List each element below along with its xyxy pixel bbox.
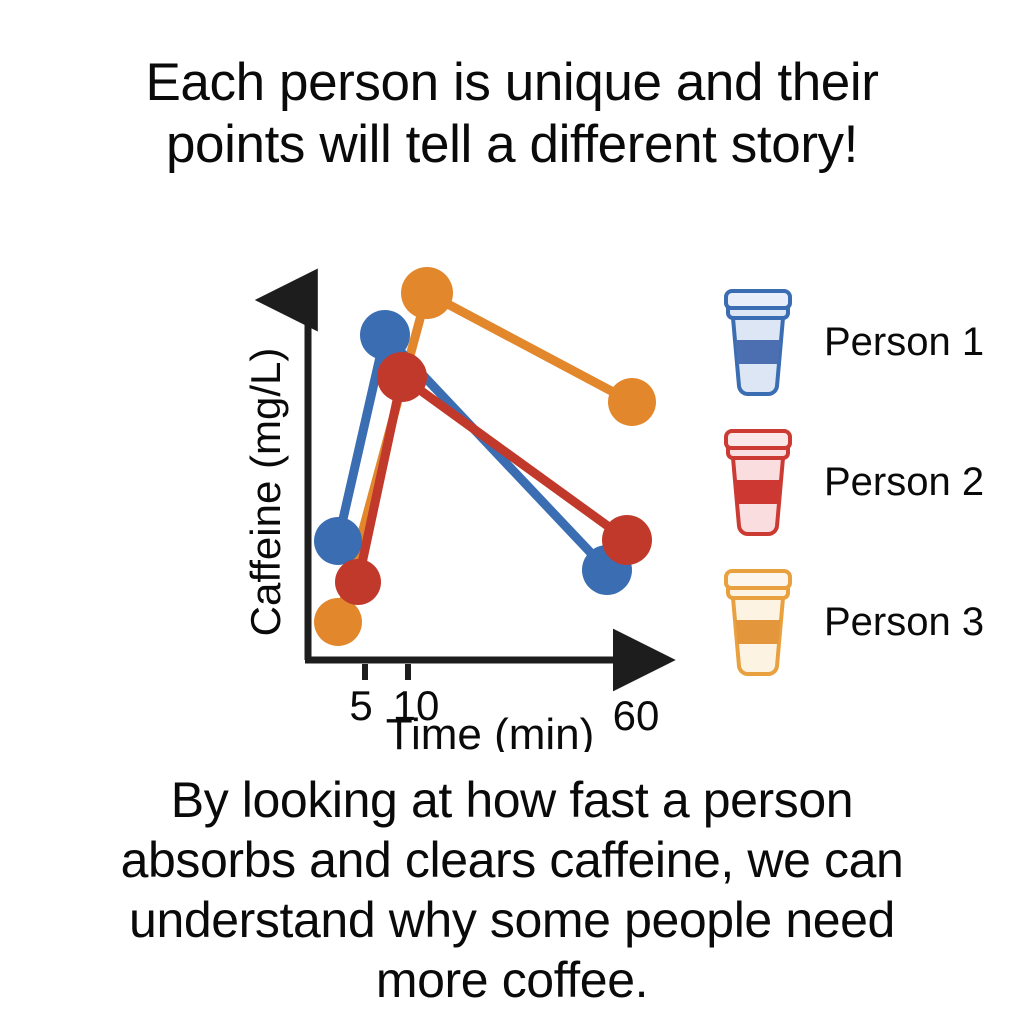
data-point	[608, 378, 656, 426]
legend-label: Person 3	[824, 602, 984, 642]
data-point	[602, 515, 652, 565]
headline-text: Each person is unique and their points w…	[0, 52, 1024, 176]
x-tick-label-60: 60	[613, 692, 660, 739]
legend-item-person-1[interactable]: Person 1	[716, 282, 1016, 402]
coffee-cup-icon	[716, 423, 800, 541]
legend-label: Person 1	[824, 322, 984, 362]
legend-item-person-3[interactable]: Person 3	[716, 562, 1016, 682]
data-point	[401, 267, 453, 319]
x-axis-label: Time (min)	[386, 710, 595, 752]
coffee-cup-icon	[716, 563, 800, 681]
caption-text: By looking at how fast a person absorbs …	[0, 770, 1024, 1010]
data-point	[335, 559, 381, 605]
caffeine-chart: 5 10 60 Time (min) Caffeine (mg/L)	[248, 252, 708, 752]
data-point	[314, 598, 362, 646]
chart-svg: 5 10 60 Time (min) Caffeine (mg/L)	[248, 252, 708, 752]
infographic-root: Each person is unique and their points w…	[0, 0, 1024, 1024]
legend-label: Person 2	[824, 462, 984, 502]
data-point	[314, 517, 362, 565]
data-point	[377, 352, 427, 402]
coffee-cup-icon	[716, 283, 800, 401]
x-tick-label-5: 5	[349, 682, 372, 729]
legend-item-person-2[interactable]: Person 2	[716, 422, 1016, 542]
y-axis-label: Caffeine (mg/L)	[248, 348, 289, 637]
chart-legend: Person 1 Person 2 Person 3	[716, 282, 1016, 682]
